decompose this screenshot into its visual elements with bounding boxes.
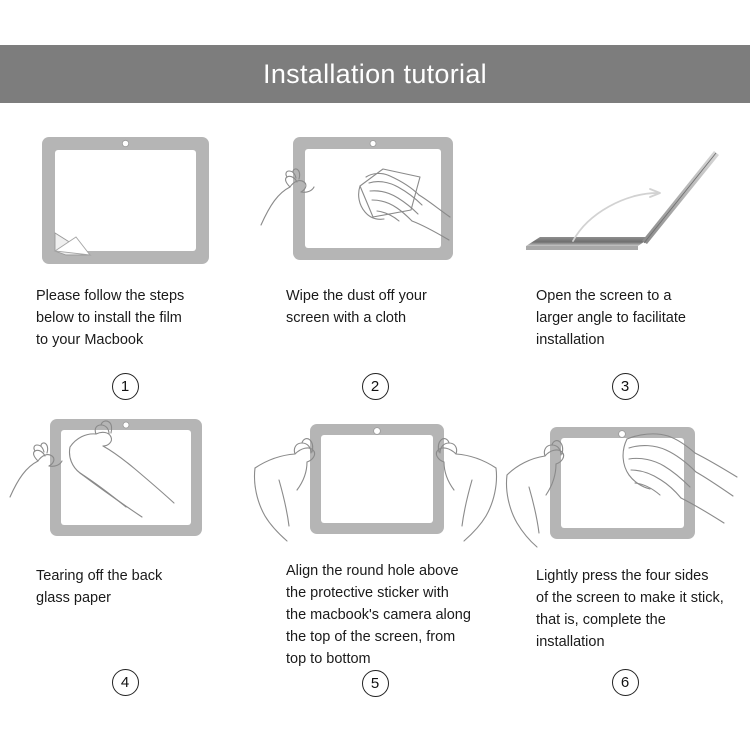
step-description-4: Tearing off the back glass paper bbox=[18, 565, 232, 609]
two-hands-aligning-film-on-screen-icon bbox=[253, 410, 498, 545]
step-illustration-3 bbox=[518, 130, 732, 270]
hand-pressing-four-sides-of-screen-icon bbox=[505, 413, 745, 548]
step-number-wrap-3: 3 bbox=[518, 373, 732, 410]
screen-with-peeling-film-corner-icon bbox=[38, 133, 213, 268]
laptop-side-view-opening-angle-icon bbox=[518, 133, 733, 268]
step-illustration-5 bbox=[268, 410, 482, 545]
step-illustration-6 bbox=[518, 410, 732, 550]
step-number-wrap-4: 4 bbox=[18, 669, 232, 710]
step-number-badge-4: 4 bbox=[112, 669, 139, 696]
tutorial-header-band: Installation tutorial bbox=[0, 45, 750, 103]
step-number-badge-6: 6 bbox=[612, 669, 639, 696]
hands-tearing-off-back-paper-icon bbox=[10, 413, 240, 548]
step-card-2: Wipe the dust off your screen with a clo… bbox=[250, 130, 500, 410]
step-description-6: Lightly press the four sides of the scre… bbox=[518, 565, 732, 653]
step-number-wrap-1: 1 bbox=[18, 373, 232, 410]
step-card-5: Align the round hole above the protectiv… bbox=[250, 410, 500, 710]
hand-wiping-screen-with-cloth-icon bbox=[260, 133, 490, 268]
page-title: Installation tutorial bbox=[263, 61, 487, 88]
step-number-badge-3: 3 bbox=[612, 373, 639, 400]
step-illustration-2 bbox=[268, 130, 482, 270]
step-card-6: Lightly press the four sides of the scre… bbox=[500, 410, 750, 710]
step-card-4: Tearing off the back glass paper 4 bbox=[0, 410, 250, 710]
step-illustration-4 bbox=[18, 410, 232, 550]
step-number-wrap-2: 2 bbox=[268, 373, 482, 410]
step-number-badge-1: 1 bbox=[112, 373, 139, 400]
step-description-3: Open the screen to a larger angle to fac… bbox=[518, 285, 732, 351]
step-number-badge-2: 2 bbox=[362, 373, 389, 400]
step-illustration-1 bbox=[18, 130, 232, 270]
step-description-2: Wipe the dust off your screen with a clo… bbox=[268, 285, 482, 329]
step-number-wrap-5: 5 bbox=[268, 670, 482, 711]
step-card-1: Please follow the steps below to install… bbox=[0, 130, 250, 410]
step-number-badge-5: 5 bbox=[362, 670, 389, 697]
step-description-5: Align the round hole above the protectiv… bbox=[268, 560, 482, 670]
step-description-1: Please follow the steps below to install… bbox=[18, 285, 232, 351]
steps-grid: Please follow the steps below to install… bbox=[0, 130, 750, 710]
step-card-3: Open the screen to a larger angle to fac… bbox=[500, 130, 750, 410]
step-number-wrap-6: 6 bbox=[518, 669, 732, 710]
